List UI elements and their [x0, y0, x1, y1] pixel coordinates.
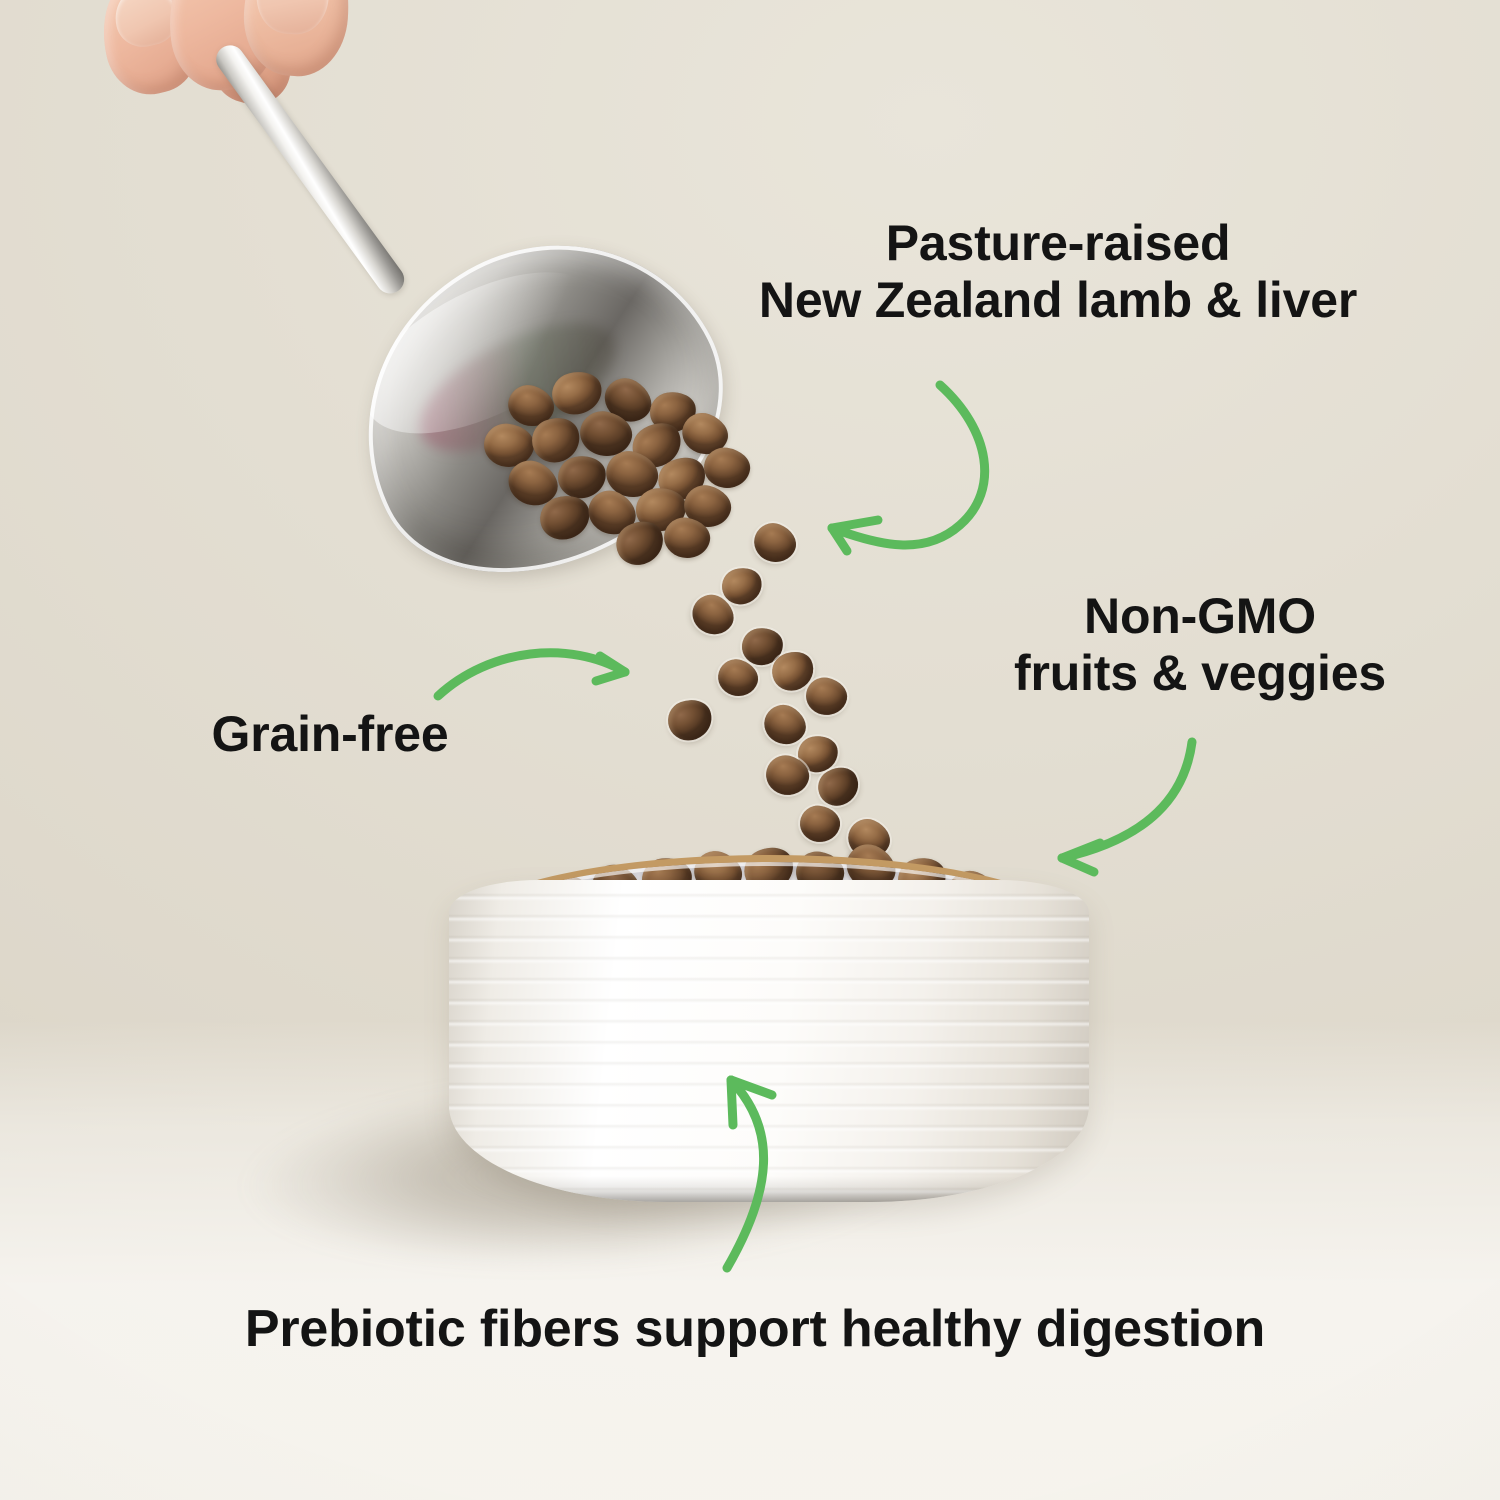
- bowl-ribs: [449, 880, 1089, 1202]
- bowl: [449, 880, 1089, 1202]
- callout-pasture-raised: Pasture-raised New Zealand lamb & liver: [668, 215, 1448, 329]
- callout-non-gmo: Non-GMO fruits & veggies: [940, 588, 1460, 702]
- bowl-foot: [449, 1176, 1089, 1202]
- callout-prebiotic-fibers: Prebiotic fibers support healthy digesti…: [60, 1300, 1450, 1359]
- product-infographic: Pasture-raised New Zealand lamb & liver …: [0, 0, 1500, 1500]
- callout-grain-free: Grain-free: [120, 706, 540, 763]
